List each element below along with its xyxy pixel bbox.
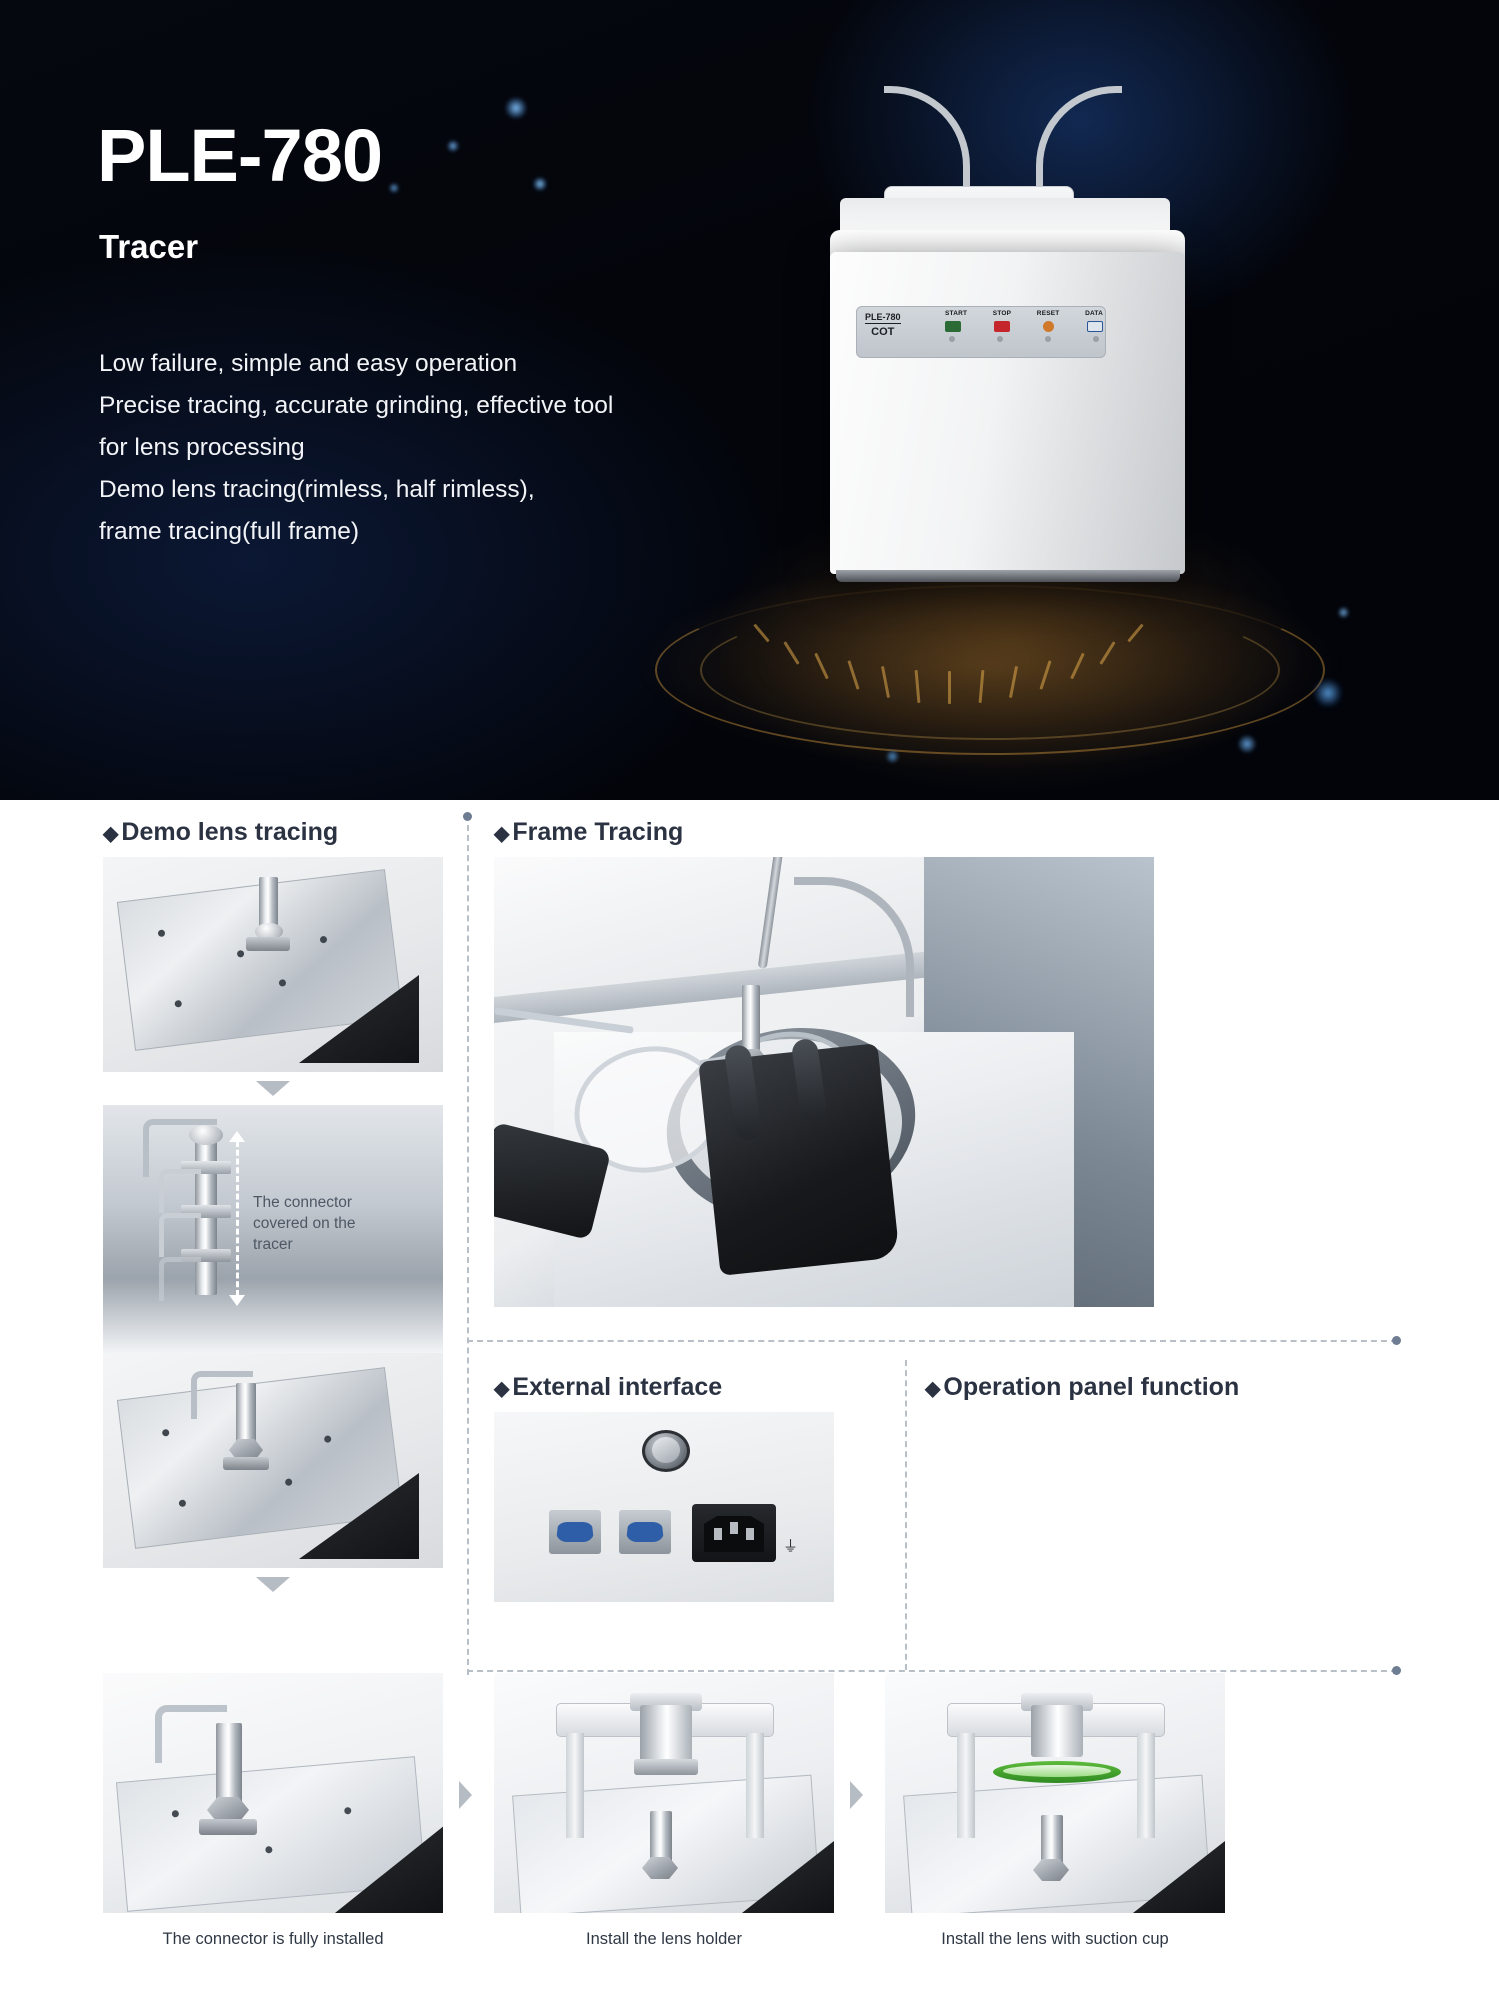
page-title: PLE-780 bbox=[97, 119, 382, 193]
tracer-key-data[interactable] bbox=[1087, 321, 1103, 332]
tracer-panel-model-top: PLE-780 bbox=[865, 312, 901, 324]
content-area: ◆Demo lens tracing ◆Frame Tracing ◆Exter… bbox=[0, 800, 1499, 1989]
hero-description-line: for lens processing bbox=[99, 427, 719, 469]
fuse-cap bbox=[652, 1437, 680, 1463]
db9-shell bbox=[626, 1522, 664, 1542]
tracer-base bbox=[836, 570, 1180, 582]
tracer-led-start bbox=[949, 336, 955, 342]
brochure-page: PLE-780 Tracer Low failure, simple and e… bbox=[0, 0, 1499, 1989]
db9-shell bbox=[556, 1522, 594, 1542]
photo-demo-lens-step3 bbox=[103, 1353, 443, 1568]
tracer-led-stop bbox=[997, 336, 1003, 342]
tracer-arm-right bbox=[1036, 86, 1122, 196]
plate-hole bbox=[279, 979, 287, 987]
connector-hook bbox=[159, 1213, 201, 1257]
connector-hook bbox=[159, 1257, 201, 1301]
holder-spindle bbox=[1031, 1705, 1083, 1757]
divider-dot-top bbox=[463, 812, 472, 821]
connector-shaft bbox=[216, 1723, 242, 1803]
hero-description-line: Low failure, simple and easy operation bbox=[99, 343, 719, 385]
connector-note: The connector covered on the tracer bbox=[253, 1192, 371, 1255]
bokeh-particle bbox=[1313, 678, 1343, 708]
section-heading-operation-panel-label: Operation panel function bbox=[943, 1373, 1239, 1401]
connector-shaft bbox=[1041, 1815, 1063, 1865]
plate-hole bbox=[179, 1499, 187, 1507]
hero-description-line: Precise tracing, accurate grinding, effe… bbox=[99, 385, 719, 427]
divider-vertical-middle bbox=[905, 1360, 907, 1670]
hero-description-line: Demo lens tracing(rimless, half rimless)… bbox=[99, 469, 719, 511]
plate-hole bbox=[344, 1807, 352, 1815]
hero-description-line: frame tracing(full frame) bbox=[99, 511, 719, 553]
photo-demo-lens-step1 bbox=[103, 857, 443, 1072]
diamond-bullet-icon: ◆ bbox=[494, 1378, 509, 1400]
connector-top-cap bbox=[189, 1125, 223, 1145]
bokeh-particle bbox=[447, 140, 459, 152]
ground-symbol-icon: ⏚ bbox=[783, 1540, 797, 1554]
section-heading-external-interface-label: External interface bbox=[512, 1373, 722, 1401]
tracer-key-label-stop: STOP bbox=[993, 310, 1011, 317]
plate-hole bbox=[320, 936, 328, 944]
tracer-key-label-data: DATA bbox=[1085, 310, 1103, 317]
divider-horizontal-upper bbox=[467, 1340, 1397, 1342]
tracer-stylus-shaft bbox=[742, 985, 760, 1055]
tracer-control-panel: PLE-780 COT START STOP RESET DATA bbox=[856, 306, 1106, 358]
holder-spindle bbox=[640, 1705, 692, 1763]
tracer-panel-model-bottom: COT bbox=[865, 326, 901, 338]
flow-arrow-down-1 bbox=[256, 1081, 290, 1096]
plate-hole bbox=[158, 929, 166, 937]
tracer-key-start[interactable] bbox=[945, 321, 961, 332]
ray bbox=[948, 671, 951, 704]
tracer-key-stop[interactable] bbox=[994, 321, 1010, 332]
caption-install-lens-suction: Install the lens with suction cup bbox=[885, 1930, 1225, 1949]
connector-shaft bbox=[650, 1811, 672, 1863]
photo-install-lens-holder bbox=[494, 1673, 834, 1913]
plate-hole bbox=[324, 1435, 332, 1443]
flow-arrow-right-2 bbox=[850, 1781, 863, 1809]
divider-dot-right-lower bbox=[1392, 1666, 1401, 1675]
bokeh-particle bbox=[886, 750, 899, 763]
flow-arrow-right-1 bbox=[459, 1781, 472, 1809]
tracer-key-label-start: START bbox=[945, 310, 967, 317]
plate-hole bbox=[172, 1810, 180, 1818]
hero-description: Low failure, simple and easy operation P… bbox=[99, 343, 719, 553]
bokeh-particle bbox=[505, 97, 527, 119]
white-arrow-down-icon bbox=[229, 1295, 245, 1306]
plate-hole bbox=[285, 1478, 293, 1486]
holder-leg-right bbox=[746, 1733, 764, 1838]
photo-frame-tracing bbox=[494, 857, 1154, 1307]
photo-install-lens-suction bbox=[885, 1673, 1225, 1913]
section-heading-demo-lens-tracing-label: Demo lens tracing bbox=[121, 818, 338, 846]
section-heading-operation-panel: ◆Operation panel function bbox=[925, 1373, 1239, 1402]
tracer-led-data bbox=[1093, 336, 1099, 342]
db9-port-1 bbox=[549, 1510, 601, 1554]
power-inlet-icon bbox=[692, 1504, 776, 1562]
plate-hole bbox=[265, 1846, 273, 1854]
tracer-arm-left bbox=[884, 86, 970, 196]
bokeh-particle bbox=[1338, 607, 1349, 618]
tracer-led-reset bbox=[1045, 336, 1051, 342]
section-heading-frame-tracing: ◆Frame Tracing bbox=[494, 818, 683, 847]
tracer-body bbox=[830, 252, 1185, 574]
plate-hole bbox=[174, 1000, 182, 1008]
holder-leg-right bbox=[1137, 1733, 1155, 1838]
section-heading-frame-tracing-label: Frame Tracing bbox=[512, 818, 683, 846]
holder-leg-left bbox=[957, 1733, 975, 1838]
photo-connector-installed bbox=[103, 1673, 443, 1913]
plate-hole bbox=[237, 950, 245, 958]
diamond-bullet-icon: ◆ bbox=[103, 823, 118, 845]
diamond-bullet-icon: ◆ bbox=[925, 1378, 940, 1400]
connector-base bbox=[246, 937, 290, 951]
power-pin bbox=[730, 1522, 738, 1534]
divider-vertical-left bbox=[467, 825, 469, 1675]
photo-demo-lens-step2: The connector covered on the tracer bbox=[103, 1105, 443, 1353]
connector-hook bbox=[159, 1169, 201, 1213]
plate-hole bbox=[162, 1429, 170, 1437]
bokeh-particle bbox=[389, 183, 399, 193]
section-heading-demo-lens-tracing: ◆Demo lens tracing bbox=[103, 818, 338, 847]
divider-dot-right-upper bbox=[1392, 1336, 1401, 1345]
caption-connector-installed: The connector is fully installed bbox=[103, 1930, 443, 1949]
page-subtitle: Tracer bbox=[99, 228, 198, 266]
hero-ring-inner bbox=[700, 600, 1280, 740]
product-photo-tracer: PLE-780 COT START STOP RESET DATA bbox=[812, 78, 1232, 578]
connector-base bbox=[199, 1819, 257, 1835]
white-dashed-guide bbox=[236, 1141, 239, 1296]
tracer-key-reset[interactable] bbox=[1043, 321, 1054, 332]
tracer-panel-model: PLE-780 COT bbox=[865, 312, 901, 338]
holder-leg-left bbox=[566, 1733, 584, 1838]
flow-arrow-down-2 bbox=[256, 1577, 290, 1592]
connector-shaft bbox=[236, 1383, 256, 1445]
holder-flange bbox=[634, 1759, 698, 1775]
connector-base bbox=[223, 1457, 269, 1470]
caption-install-lens-holder: Install the lens holder bbox=[494, 1930, 834, 1949]
photo-external-interface: ⏚ bbox=[494, 1412, 834, 1602]
tracer-panel-keys: START STOP RESET DATA bbox=[945, 310, 1103, 342]
bokeh-particle bbox=[533, 177, 547, 191]
diamond-bullet-icon: ◆ bbox=[494, 823, 509, 845]
db9-port-2 bbox=[619, 1510, 671, 1554]
tracer-key-label-reset: RESET bbox=[1037, 310, 1060, 317]
divider-horizontal-lower bbox=[467, 1670, 1397, 1672]
hero-banner: PLE-780 Tracer Low failure, simple and e… bbox=[0, 0, 1499, 800]
suction-cup-highlight bbox=[1003, 1765, 1111, 1777]
power-pin bbox=[714, 1528, 722, 1540]
power-pin bbox=[746, 1528, 754, 1540]
section-heading-external-interface: ◆External interface bbox=[494, 1373, 722, 1402]
bokeh-particle bbox=[1238, 735, 1256, 753]
